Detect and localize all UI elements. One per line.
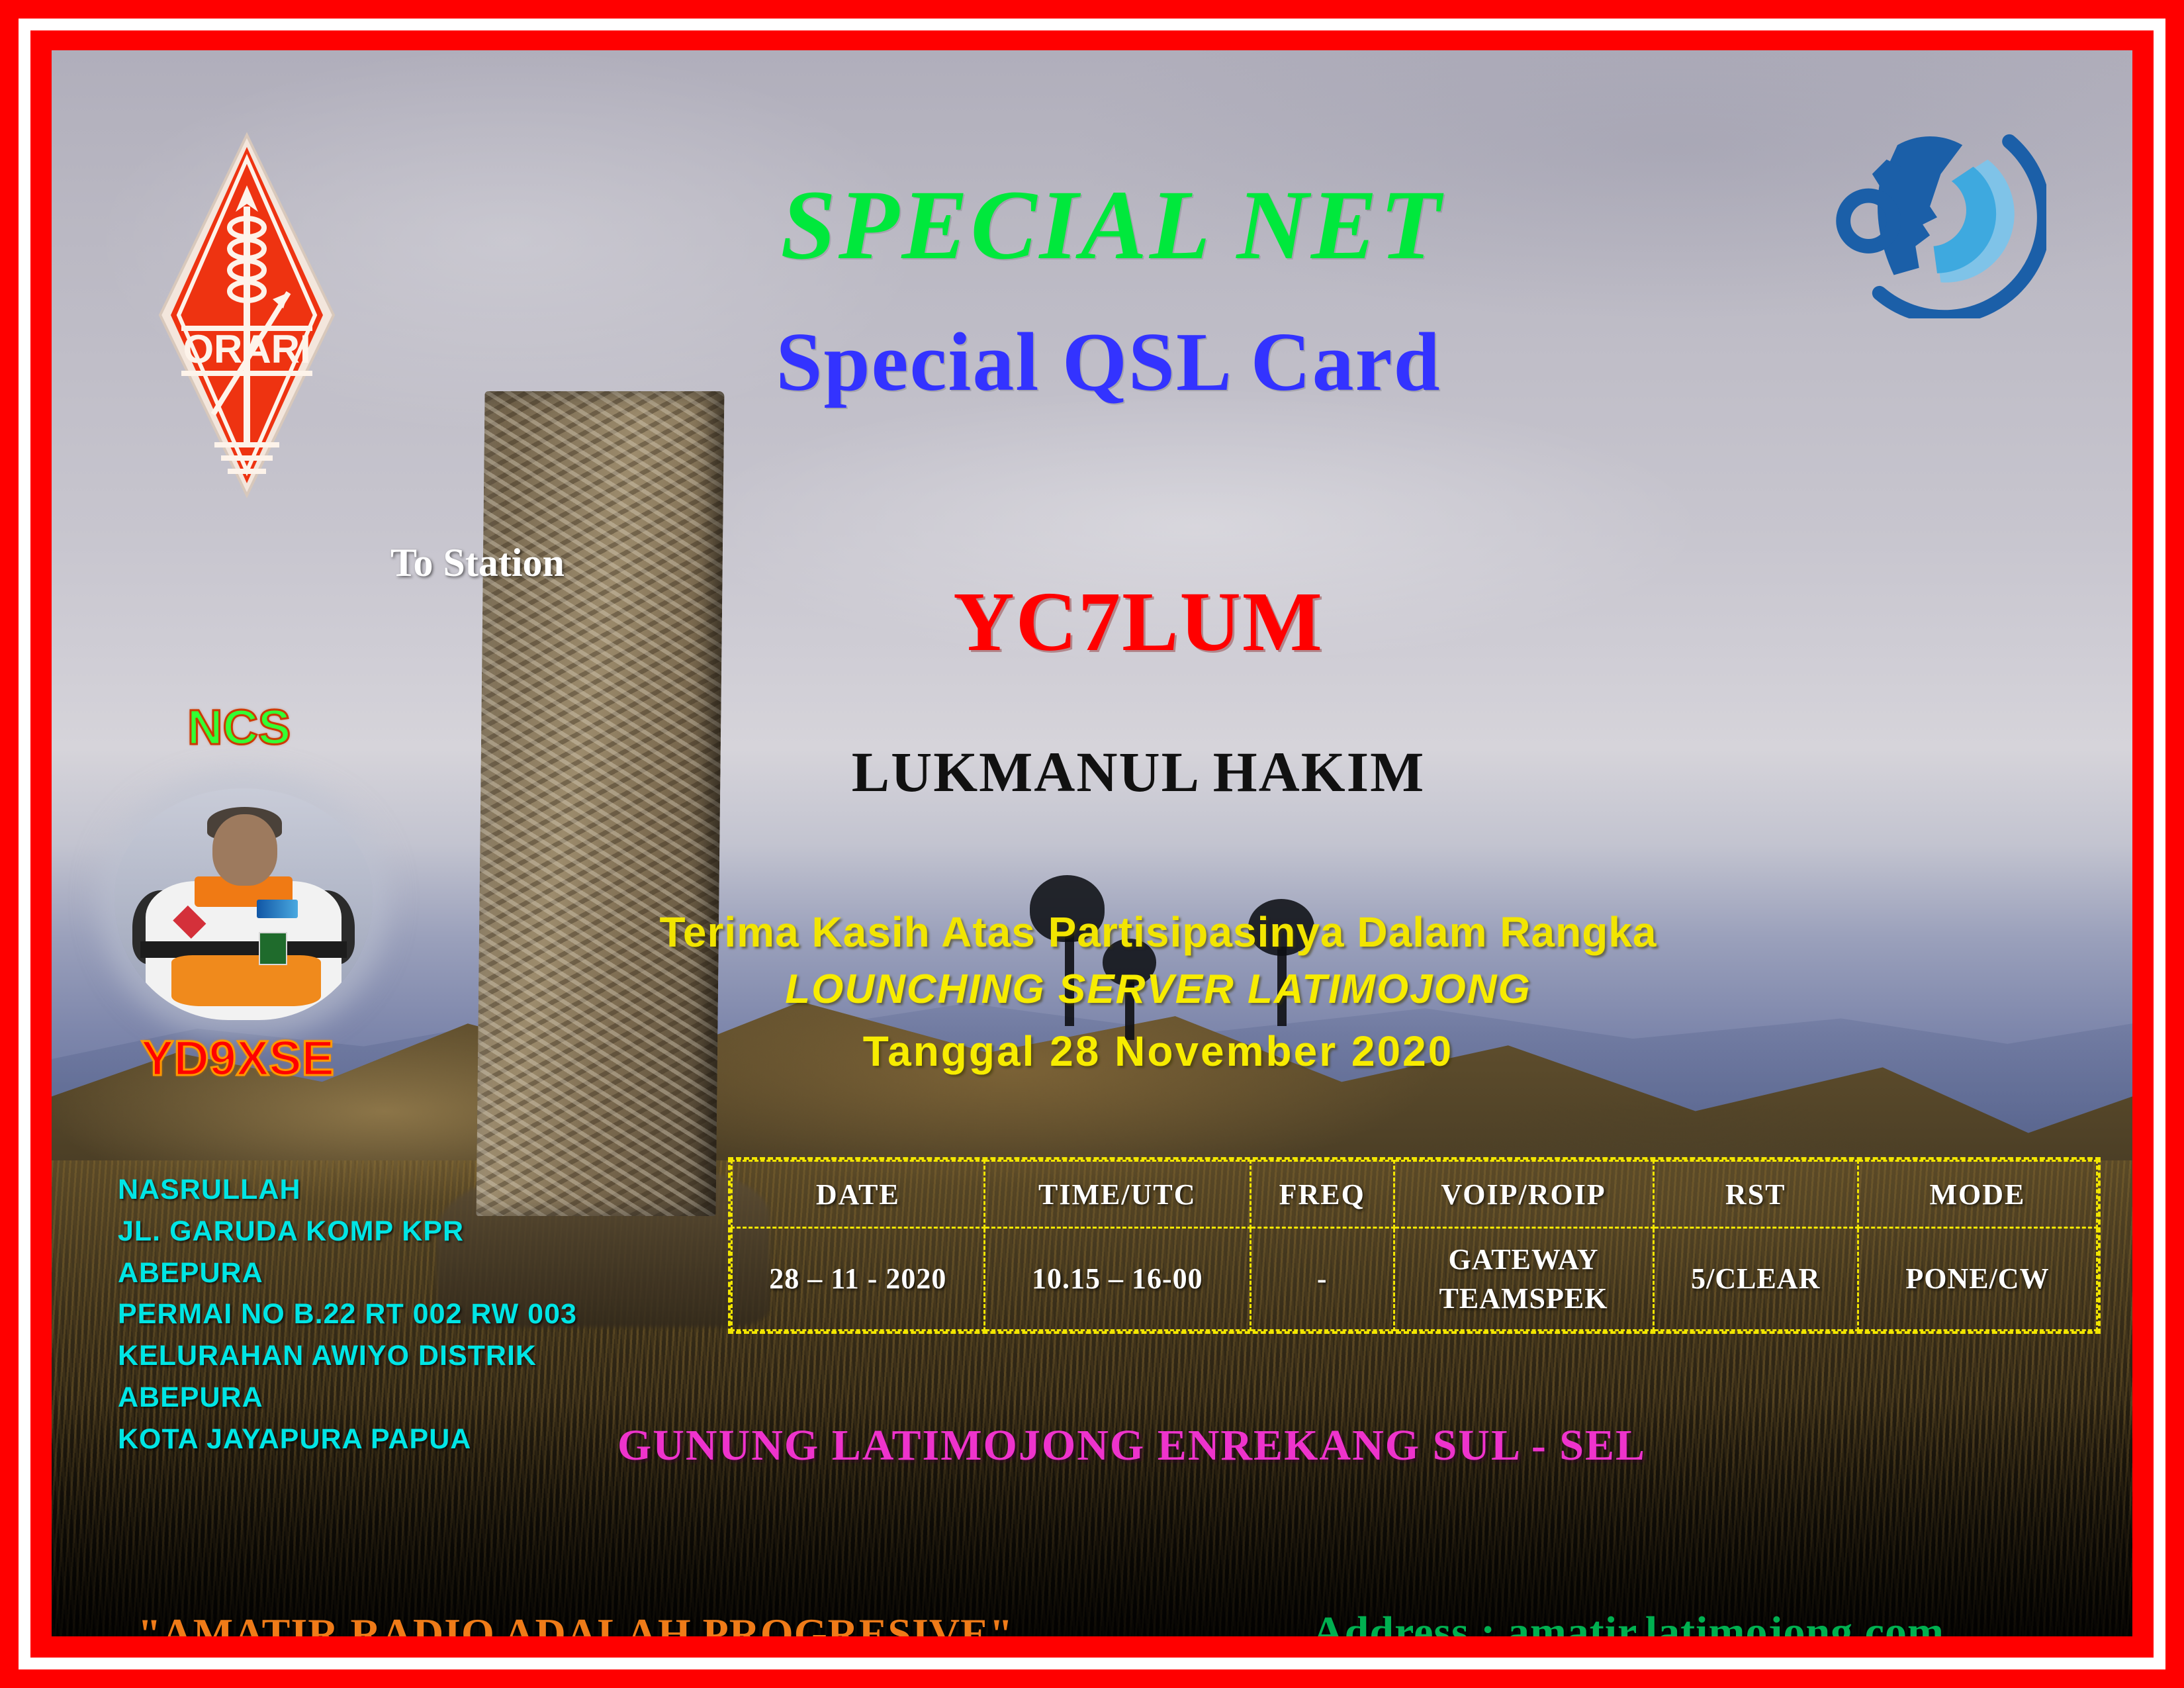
thanks-line-3: Tanggal 28 November 2020 <box>184 1019 2132 1083</box>
address-line: ABEPURA <box>118 1377 577 1419</box>
page-title: SPECIAL NET <box>52 168 2132 282</box>
cell-voip-roip: GATEWAY TEAMSPEK <box>1394 1228 1653 1331</box>
thanks-line-1: Terima Kasih Atas Partisipasinya Dalam R… <box>184 904 2132 960</box>
footer-web-address: Address : amatir.latimojong.com <box>1312 1607 1944 1636</box>
address-line: PERMAI NO B.22 RT 002 RW 003 <box>118 1293 577 1335</box>
ncs-operator-avatar <box>114 788 373 1020</box>
address-line: JL. GARUDA KOMP KPR <box>118 1211 577 1252</box>
table-row: 28 – 11 - 2020 10.15 – 16-00 - GATEWAY T… <box>732 1228 2097 1331</box>
station-callsign: YC7LUM <box>52 573 2132 671</box>
avatar-head <box>212 814 277 886</box>
page-subtitle: Special QSL Card <box>52 315 2132 410</box>
location-caption: GUNUNG LATIMOJONG ENREKANG SUL - SEL <box>52 1421 2132 1471</box>
avatar-sash <box>171 955 321 1006</box>
col-header-rst: RST <box>1653 1161 1858 1228</box>
ncs-badge: NCS <box>187 699 291 755</box>
avatar-id-tag <box>259 932 287 965</box>
col-header-time: TIME/UTC <box>984 1161 1250 1228</box>
mailing-address: NASRULLAH JL. GARUDA KOMP KPR ABEPURA PE… <box>118 1169 577 1460</box>
thanks-line-2: LOUNCHING SERVER LATIMOJONG <box>184 960 2132 1019</box>
background-photo: ORARI SPECIAL NET Special QSL <box>52 50 2132 1636</box>
avatar-chest-logo <box>257 900 298 918</box>
col-header-freq: FREQ <box>1250 1161 1394 1228</box>
qsl-card: ORARI SPECIAL NET Special QSL <box>0 0 2184 1688</box>
footer-motto: "AMATIR RADIO ADALAH PROGRESIVE" <box>138 1609 1013 1636</box>
col-header-mode: MODE <box>1858 1161 2097 1228</box>
cell-time: 10.15 – 16-00 <box>984 1228 1250 1331</box>
address-line: ABEPURA <box>118 1252 577 1294</box>
col-header-voip-roip: VOIP/ROIP <box>1394 1161 1653 1228</box>
cell-rst: 5/CLEAR <box>1653 1228 1858 1331</box>
cell-mode: PONE/CW <box>1858 1228 2097 1331</box>
address-line: KELURAHAN AWIYO DISTRIK <box>118 1335 577 1377</box>
ncs-callsign: YD9XSE <box>141 1030 334 1086</box>
address-line: NASRULLAH <box>118 1169 577 1211</box>
qso-log-table: DATE TIME/UTC FREQ VOIP/ROIP RST MODE 28… <box>728 1157 2101 1334</box>
col-header-date: DATE <box>732 1161 985 1228</box>
cell-date: 28 – 11 - 2020 <box>732 1228 985 1331</box>
cell-freq: - <box>1250 1228 1394 1331</box>
table-header-row: DATE TIME/UTC FREQ VOIP/ROIP RST MODE <box>732 1161 2097 1228</box>
operator-name: LUKMANUL HAKIM <box>52 739 2132 805</box>
